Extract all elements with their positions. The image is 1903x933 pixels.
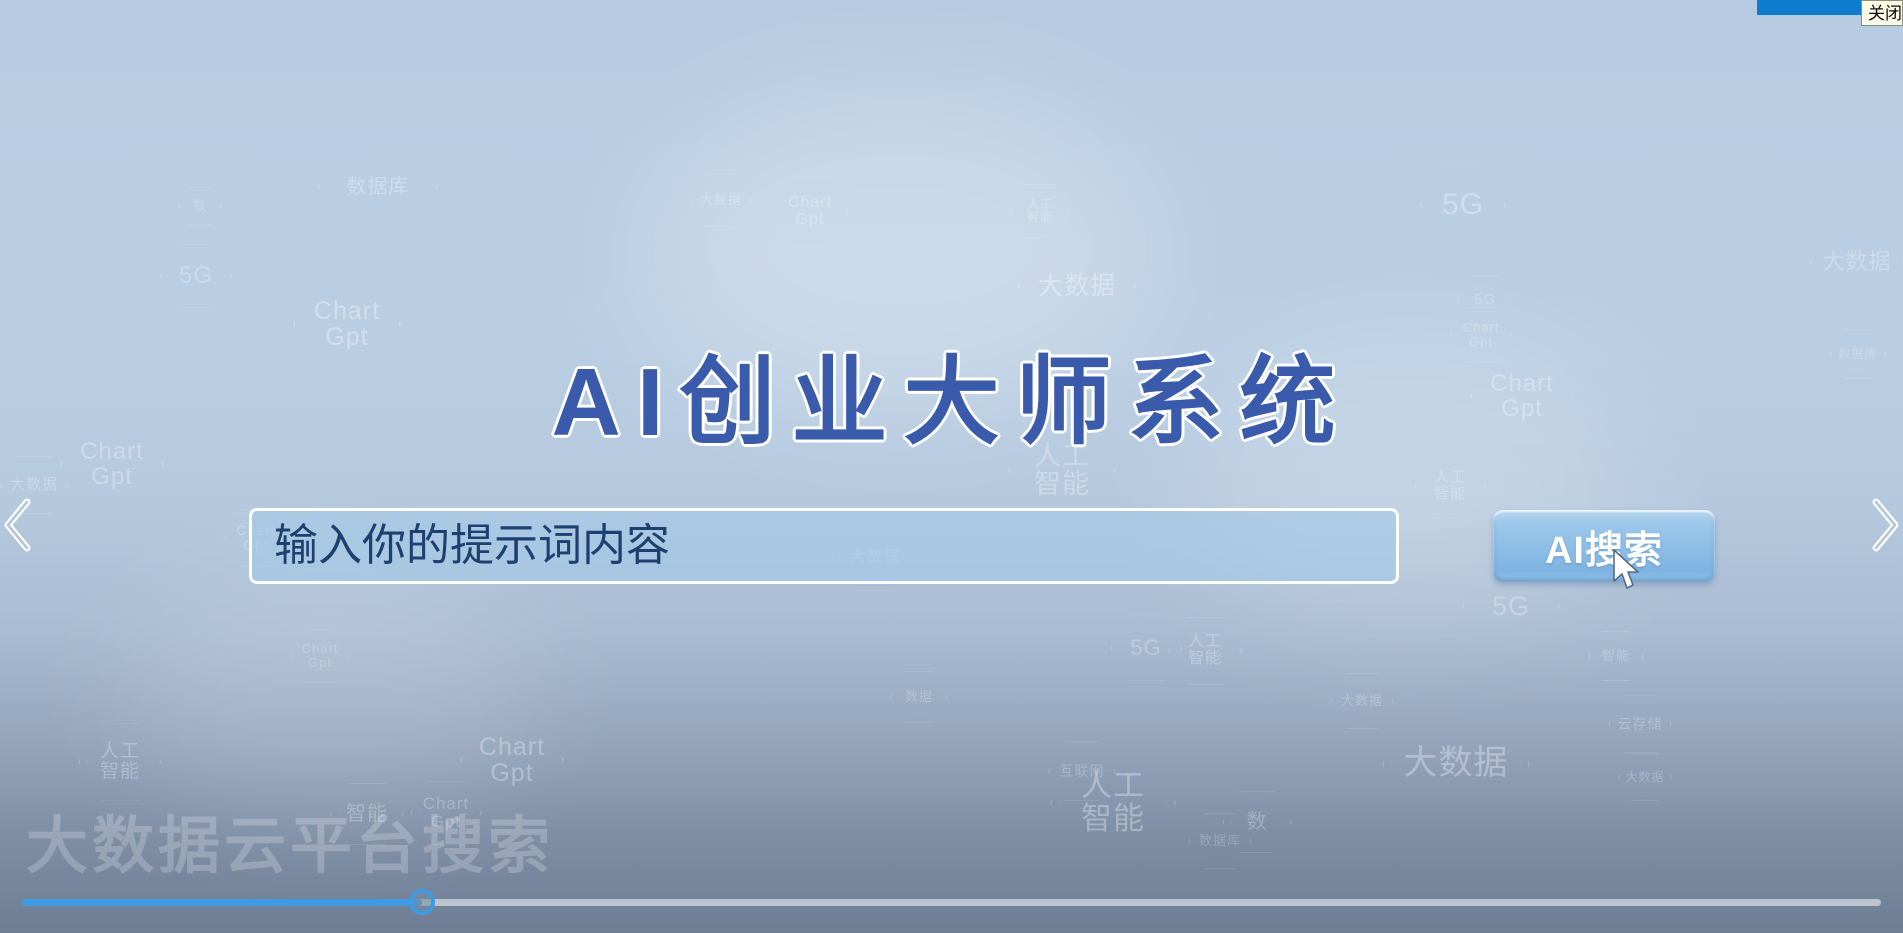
background-hex-label: 人工 智能 <box>94 742 146 782</box>
background-hex-tag: 数据 <box>890 670 948 724</box>
page-title: AI创业大师系统 <box>0 324 1903 463</box>
background-hex-tag: Chart Gpt <box>410 780 482 846</box>
hexagon-outline-icon <box>1330 672 1394 730</box>
hexagon-outline-icon <box>1382 694 1530 834</box>
background-hex-label: 5G <box>173 263 219 288</box>
background-hex-tag: Chart Gpt <box>290 628 350 684</box>
background-hex-label: Chart Gpt <box>782 195 838 229</box>
background-hex-label: 5G <box>1436 189 1490 221</box>
background-hex-tag: 大数据 <box>1810 218 1903 306</box>
hexagon-outline-icon <box>1608 694 1672 754</box>
background-hex-label: 5G <box>1468 292 1502 308</box>
background-hex-label: Chart Gpt <box>417 795 476 831</box>
background-hex-label: 大数据 <box>1032 273 1122 299</box>
background-hex-tag: 数 <box>178 186 222 226</box>
background-hex-tag: 人工 智能 <box>78 722 162 802</box>
background-hex-label: 数据 <box>899 690 939 704</box>
slider-fill <box>22 899 422 906</box>
hexagon-outline-icon <box>1188 812 1252 870</box>
background-hex-tag: 5G <box>1420 165 1506 245</box>
background-hex-label: 大数据 <box>1816 250 1897 273</box>
background-hex-tag: 5G <box>160 243 232 309</box>
background-hex-tag: 人工 智能 <box>1168 616 1242 686</box>
background-hex-label: 人工 智能 <box>1075 770 1151 835</box>
background-hex-tag: 数据库 <box>318 133 438 241</box>
hexagon-outline-icon <box>1457 274 1513 326</box>
background-hex-tag: 人工 智能 <box>1010 183 1070 239</box>
hexagon-outline-icon <box>1050 742 1176 864</box>
background-hex-tag: 大数据 <box>1382 694 1530 834</box>
hexagon-outline-icon <box>460 710 564 810</box>
hexagon-outline-icon <box>1168 616 1242 686</box>
close-tooltip: 关闭 <box>1861 0 1903 26</box>
background-hex-label: 大数据 <box>4 477 64 493</box>
slider-handle[interactable] <box>409 889 435 915</box>
background-hex-label: 5G <box>1486 592 1536 620</box>
prompt-input[interactable] <box>249 508 1399 584</box>
background-hex-tag: 智能 <box>330 782 404 846</box>
background-hex-tag: 智能 <box>1588 630 1644 682</box>
background-hex-tag: 数据库 <box>1188 812 1252 870</box>
progress-slider[interactable] <box>0 889 1903 915</box>
background-decoration: 数据库Chart Gpt5G数大数据Chart GptChart GptChar… <box>0 0 1903 933</box>
background-hex-label: 云存储 <box>1612 717 1669 732</box>
hexagon-outline-icon <box>290 628 350 684</box>
hexagon-outline-icon <box>410 780 482 846</box>
ai-search-button[interactable]: AI搜索 <box>1493 510 1715 582</box>
background-hex-tag: 大数据 <box>1330 672 1394 730</box>
hexagon-outline-icon <box>1222 790 1292 854</box>
background-hex-label: 数 <box>187 199 213 213</box>
background-hex-label: 大数据 <box>694 193 748 207</box>
hexagon-outline-icon <box>318 133 438 241</box>
glow-blob <box>120 560 540 820</box>
background-hex-tag: Chart Gpt <box>772 176 848 248</box>
chevron-right-icon[interactable] <box>1867 496 1901 554</box>
hexagon-outline-icon <box>772 176 848 248</box>
hexagon-outline-icon <box>690 172 752 228</box>
taskbar-blue-bar[interactable] <box>1757 0 1867 15</box>
background-hex-tag: 互联网 <box>1048 740 1116 802</box>
background-hex-tag: 大数据 <box>690 172 752 228</box>
background-hex-label: 人工 智能 <box>1428 470 1472 502</box>
background-hex-label: 大数据 <box>1335 694 1389 708</box>
hexagon-outline-icon <box>890 670 948 724</box>
background-hex-label: 大数据 <box>1619 771 1670 784</box>
background-hex-tag: 云存储 <box>1608 694 1672 754</box>
background-hex-tag: 大数据 <box>1618 752 1672 802</box>
background-hex-label: 互联网 <box>1054 764 1111 779</box>
app-screen: 数据库Chart Gpt5G数大数据Chart GptChart GptChar… <box>0 0 1903 933</box>
background-hex-label: 人工 智能 <box>1182 634 1228 668</box>
background-hex-label: Chart Gpt <box>296 642 345 669</box>
hexagon-outline-icon <box>160 243 232 309</box>
hexagon-outline-icon <box>1618 752 1672 802</box>
hexagon-outline-icon <box>1588 630 1644 682</box>
hexagon-outline-icon <box>1010 183 1070 239</box>
hexagon-outline-icon <box>1110 614 1182 682</box>
background-hex-tag: Chart Gpt <box>460 710 564 810</box>
background-hex-label: 数据库 <box>1193 834 1247 848</box>
background-hex-label: 大数据 <box>1398 746 1515 782</box>
chevron-left-icon[interactable] <box>2 496 36 554</box>
background-hex-tag: 5G <box>1110 614 1182 682</box>
background-hex-label: 数 <box>1241 812 1274 833</box>
background-hex-tag: 5G <box>1457 274 1513 326</box>
background-hex-label: Chart Gpt <box>473 734 551 787</box>
background-hex-label: 数据库 <box>341 177 416 198</box>
background-hex-label: 5G <box>1124 636 1167 659</box>
hexagon-outline-icon <box>178 186 222 226</box>
hexagon-outline-icon <box>1048 740 1116 802</box>
search-row: AI搜索 <box>249 508 1719 592</box>
background-hex-tag: 人工 智能 <box>1050 742 1176 864</box>
background-hex-label: 智能 <box>1596 649 1636 663</box>
hexagon-outline-icon <box>78 722 162 802</box>
hexagon-outline-icon <box>1810 218 1903 306</box>
hexagon-outline-icon <box>330 782 404 846</box>
hexagon-outline-icon <box>1420 165 1506 245</box>
background-hex-label: 人工 智能 <box>1021 198 1059 223</box>
background-hex-tag: 数 <box>1222 790 1292 854</box>
footer-watermark: 大数据云平台搜索 <box>26 795 554 885</box>
background-hex-label: 智能 <box>340 804 394 825</box>
